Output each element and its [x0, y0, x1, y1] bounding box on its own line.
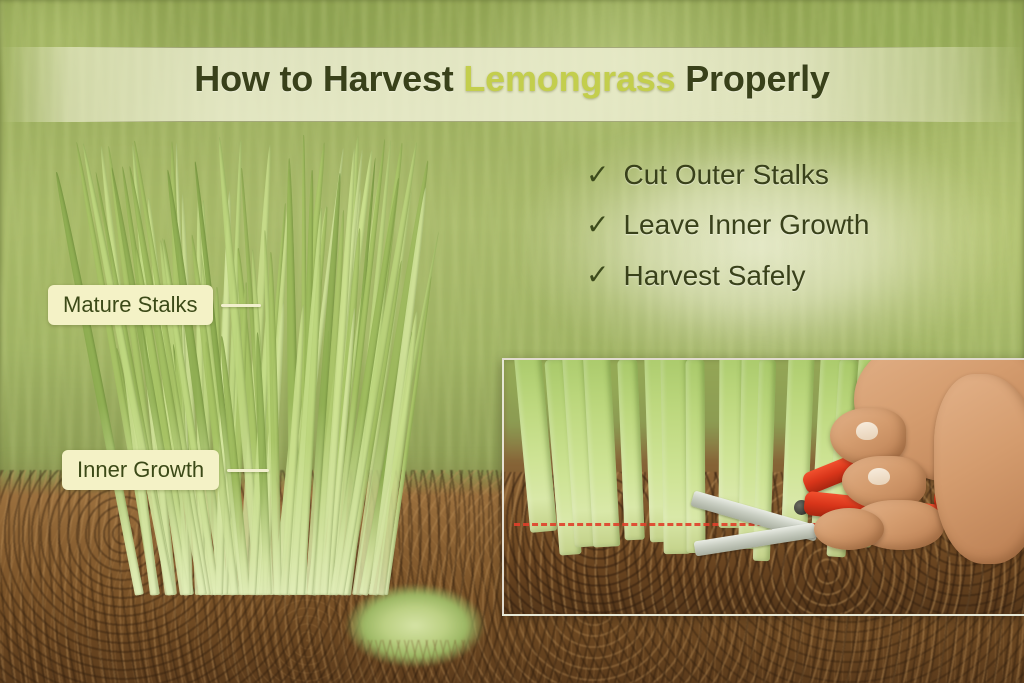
check-icon: ✓: [586, 261, 609, 289]
title-rule-top: [78, 47, 946, 48]
callout-box: Inner Growth: [62, 450, 219, 490]
title-accent-word: Lemongrass: [463, 58, 675, 99]
checklist-item: ✓ Cut Outer Stalks: [586, 160, 986, 189]
checklist-item-label: Cut Outer Stalks: [623, 160, 828, 189]
check-icon: ✓: [586, 211, 609, 239]
lemongrass-clump: [110, 95, 500, 595]
checklist-item: ✓ Leave Inner Growth: [586, 210, 986, 239]
hand-back: [934, 374, 1024, 564]
callout-mature-stalks: Mature Stalks: [48, 285, 261, 325]
fingernail: [856, 422, 878, 440]
clump-roots: [325, 640, 525, 683]
infographic-canvas: How to Harvest Lemongrass Properly ✓ Cut…: [0, 0, 1024, 683]
hand-thumb: [814, 508, 884, 550]
callout-box: Mature Stalks: [48, 285, 213, 325]
callout-label: Mature Stalks: [63, 292, 198, 317]
fingernail: [868, 468, 890, 485]
checklist: ✓ Cut Outer Stalks ✓ Leave Inner Growth …: [586, 160, 986, 311]
page-title: How to Harvest Lemongrass Properly: [0, 58, 1024, 100]
title-part-2: Properly: [675, 58, 829, 99]
callout-inner-growth: Inner Growth: [62, 450, 269, 490]
checklist-item-label: Harvest Safely: [623, 261, 805, 290]
callout-leader-line: [221, 304, 261, 307]
inset-panel-harvest-closeup: [502, 358, 1024, 616]
callout-label: Inner Growth: [77, 457, 204, 482]
checklist-item-label: Leave Inner Growth: [623, 210, 869, 239]
title-part-1: How to Harvest: [194, 58, 463, 99]
checklist-item: ✓ Harvest Safely: [586, 261, 986, 290]
check-icon: ✓: [586, 161, 609, 189]
callout-leader-line: [227, 469, 269, 472]
